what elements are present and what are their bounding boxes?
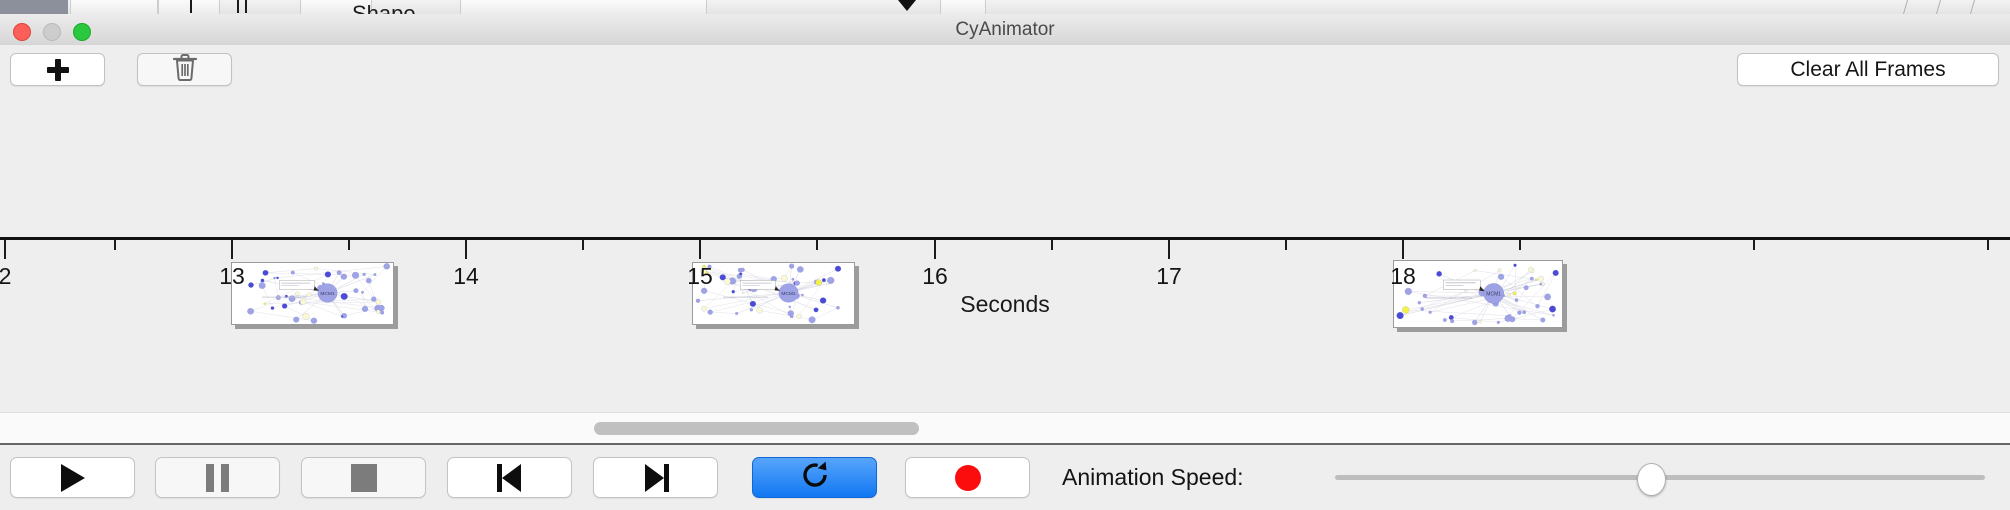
slider-thumb[interactable] bbox=[1637, 463, 1666, 496]
toolbar: Clear All Frames bbox=[0, 45, 2010, 94]
background-tab bbox=[158, 0, 220, 14]
skip-back-icon bbox=[497, 464, 523, 492]
loop-icon bbox=[800, 460, 830, 495]
axis-tick-major bbox=[231, 240, 233, 259]
axis-tick-label: 18 bbox=[1343, 263, 1463, 290]
axis-tick-minor bbox=[1519, 240, 1521, 250]
background-tab bbox=[70, 0, 158, 14]
plus-icon bbox=[47, 59, 69, 81]
axis-tick-minor bbox=[348, 240, 350, 250]
axis-tick-minor bbox=[1051, 240, 1053, 250]
play-icon bbox=[61, 464, 85, 492]
background-tab bbox=[940, 0, 986, 14]
stop-button[interactable] bbox=[301, 457, 426, 498]
axis-tick-major bbox=[4, 240, 6, 259]
background-marker bbox=[237, 0, 239, 13]
background-marker bbox=[245, 0, 247, 13]
axis-tick-major bbox=[465, 240, 467, 259]
title-bar: CyAnimator bbox=[0, 14, 2010, 46]
skip-forward-icon bbox=[643, 464, 669, 492]
pause-icon bbox=[206, 464, 229, 492]
loop-button[interactable] bbox=[752, 457, 877, 498]
axis-tick-major bbox=[934, 240, 936, 259]
axis-tick-minor bbox=[1753, 240, 1755, 250]
add-frame-button[interactable] bbox=[10, 53, 105, 86]
axis-tick-label: 13 bbox=[172, 263, 292, 290]
timeline-scrollbar[interactable] bbox=[0, 412, 2010, 444]
background-window-chip bbox=[0, 0, 68, 14]
cyanimator-window: Shape CyAnimator Clear All Frames bbox=[0, 0, 2010, 510]
axis-tick-label: 15 bbox=[640, 263, 760, 290]
axis-tick-minor bbox=[1987, 240, 1989, 250]
background-marker bbox=[898, 0, 916, 11]
trash-icon bbox=[172, 53, 198, 87]
axis-tick-major bbox=[1402, 240, 1404, 259]
play-button[interactable] bbox=[10, 457, 135, 498]
first-frame-button[interactable] bbox=[447, 457, 572, 498]
axis-tick-minor bbox=[1285, 240, 1287, 250]
axis-tick-major bbox=[1168, 240, 1170, 259]
background-marker bbox=[1936, 0, 1941, 14]
record-button[interactable] bbox=[905, 457, 1030, 498]
clear-all-frames-button[interactable]: Clear All Frames bbox=[1737, 53, 1999, 86]
animation-speed-label: Animation Speed: bbox=[1062, 457, 1244, 498]
record-icon bbox=[955, 465, 981, 491]
axis-tick-major bbox=[699, 240, 701, 259]
playback-control-bar: Animation Speed: bbox=[0, 443, 2010, 510]
background-marker bbox=[190, 0, 192, 13]
last-frame-button[interactable] bbox=[593, 457, 718, 498]
window-title: CyAnimator bbox=[0, 14, 2010, 45]
stop-icon bbox=[351, 464, 377, 492]
axis-tick-label: 16 bbox=[875, 263, 995, 290]
background-marker bbox=[1970, 0, 1975, 14]
axis-line bbox=[0, 237, 2010, 240]
axis-tick-minor bbox=[582, 240, 584, 250]
clear-all-frames-label: Clear All Frames bbox=[1790, 58, 1945, 82]
axis-tick-minor bbox=[114, 240, 116, 250]
axis-tick-label: 14 bbox=[406, 263, 526, 290]
axis-tick-minor bbox=[816, 240, 818, 250]
background-tab bbox=[460, 0, 707, 14]
background-marker bbox=[1903, 0, 1908, 14]
axis-title: Seconds bbox=[0, 291, 2010, 318]
axis-tick-label: 17 bbox=[1109, 263, 1229, 290]
background-window: Shape bbox=[0, 0, 2010, 15]
pause-button[interactable] bbox=[155, 457, 280, 498]
scrollbar-thumb[interactable] bbox=[594, 422, 919, 435]
delete-frame-button[interactable] bbox=[137, 53, 232, 86]
timeline-panel[interactable]: MCM1MCM1MCM1 2131415161718 Seconds bbox=[0, 92, 2010, 412]
animation-speed-slider[interactable] bbox=[1335, 457, 1985, 498]
axis-tick-label: 2 bbox=[0, 263, 65, 290]
background-window-label: Shape bbox=[352, 1, 416, 15]
